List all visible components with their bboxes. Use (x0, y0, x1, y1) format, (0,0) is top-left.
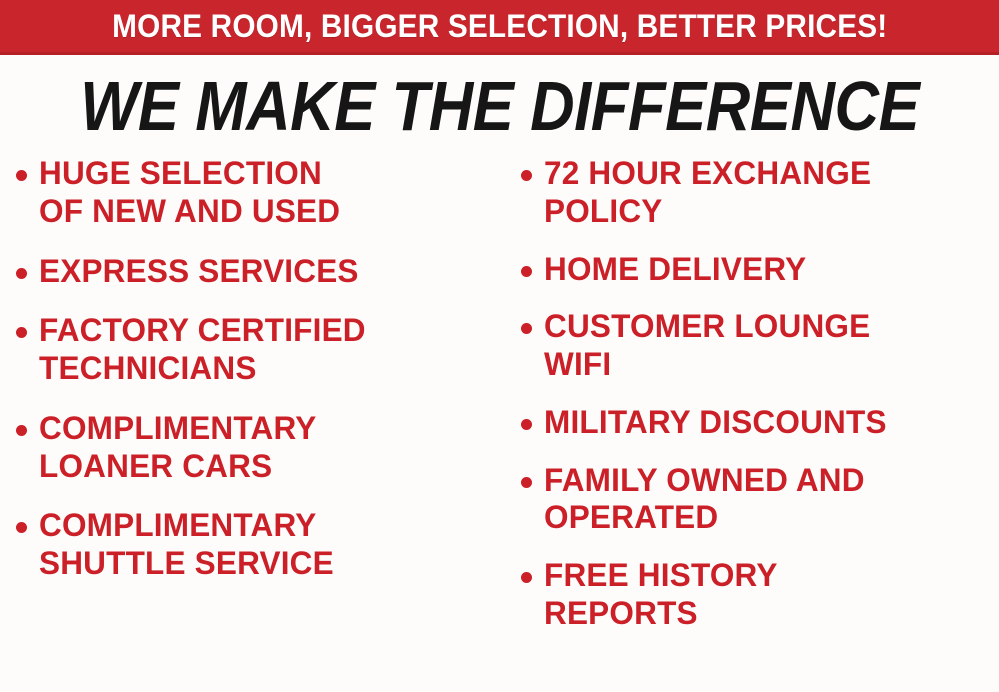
list-item: MILITARY DISCOUNTS (521, 404, 999, 442)
list-item: CUSTOMER LOUNGE WIFI (521, 308, 999, 384)
list-item: HOME DELIVERY (521, 251, 999, 289)
promo-poster: MORE ROOM, BIGGER SELECTION, BETTER PRIC… (0, 0, 999, 692)
list-item-label: MILITARY DISCOUNTS (544, 404, 992, 442)
benefits-column-right: 72 HOUR EXCHANGE POLICY HOME DELIVERY CU… (505, 155, 999, 653)
list-item-label: FACTORY CERTIFIED TECHNICIANS (39, 312, 498, 388)
list-item: FACTORY CERTIFIED TECHNICIANS (16, 312, 505, 388)
benefits-columns: HUGE SELECTION OF NEW AND USED EXPRESS S… (0, 155, 999, 692)
list-item-label: 72 HOUR EXCHANGE POLICY (544, 155, 992, 231)
bullet-dot-icon (521, 477, 532, 488)
list-item: EXPRESS SERVICES (16, 253, 505, 291)
bullet-dot-icon (16, 170, 27, 181)
list-item-label: HUGE SELECTION OF NEW AND USED (39, 155, 498, 231)
list-item: 72 HOUR EXCHANGE POLICY (521, 155, 999, 231)
bullet-dot-icon (521, 572, 532, 583)
list-item-label: EXPRESS SERVICES (39, 253, 498, 291)
banner-headline-text: MORE ROOM, BIGGER SELECTION, BETTER PRIC… (112, 10, 887, 42)
list-item-label: FAMILY OWNED AND OPERATED (544, 462, 992, 538)
main-headline-container: WE MAKE THE DIFFERENCE (0, 68, 999, 144)
page-title: WE MAKE THE DIFFERENCE (80, 71, 919, 141)
list-item: HUGE SELECTION OF NEW AND USED (16, 155, 505, 231)
bullet-dot-icon (16, 327, 27, 338)
bullet-dot-icon (521, 419, 532, 430)
bullet-dot-icon (521, 170, 532, 181)
list-item: COMPLIMENTARY LOANER CARS (16, 410, 505, 486)
bullet-dot-icon (16, 268, 27, 279)
top-banner: MORE ROOM, BIGGER SELECTION, BETTER PRIC… (0, 0, 999, 55)
bullet-dot-icon (16, 425, 27, 436)
list-item-label: HOME DELIVERY (544, 251, 992, 289)
list-item: FREE HISTORY REPORTS (521, 557, 999, 633)
list-item-label: FREE HISTORY REPORTS (544, 557, 992, 633)
bullet-dot-icon (521, 266, 532, 277)
benefits-column-left: HUGE SELECTION OF NEW AND USED EXPRESS S… (0, 155, 505, 605)
list-item-label: CUSTOMER LOUNGE WIFI (544, 308, 992, 384)
list-item-label: COMPLIMENTARY SHUTTLE SERVICE (39, 507, 498, 583)
bullet-dot-icon (521, 323, 532, 334)
list-item: FAMILY OWNED AND OPERATED (521, 462, 999, 538)
bullet-dot-icon (16, 522, 27, 533)
list-item: COMPLIMENTARY SHUTTLE SERVICE (16, 507, 505, 583)
list-item-label: COMPLIMENTARY LOANER CARS (39, 410, 498, 486)
